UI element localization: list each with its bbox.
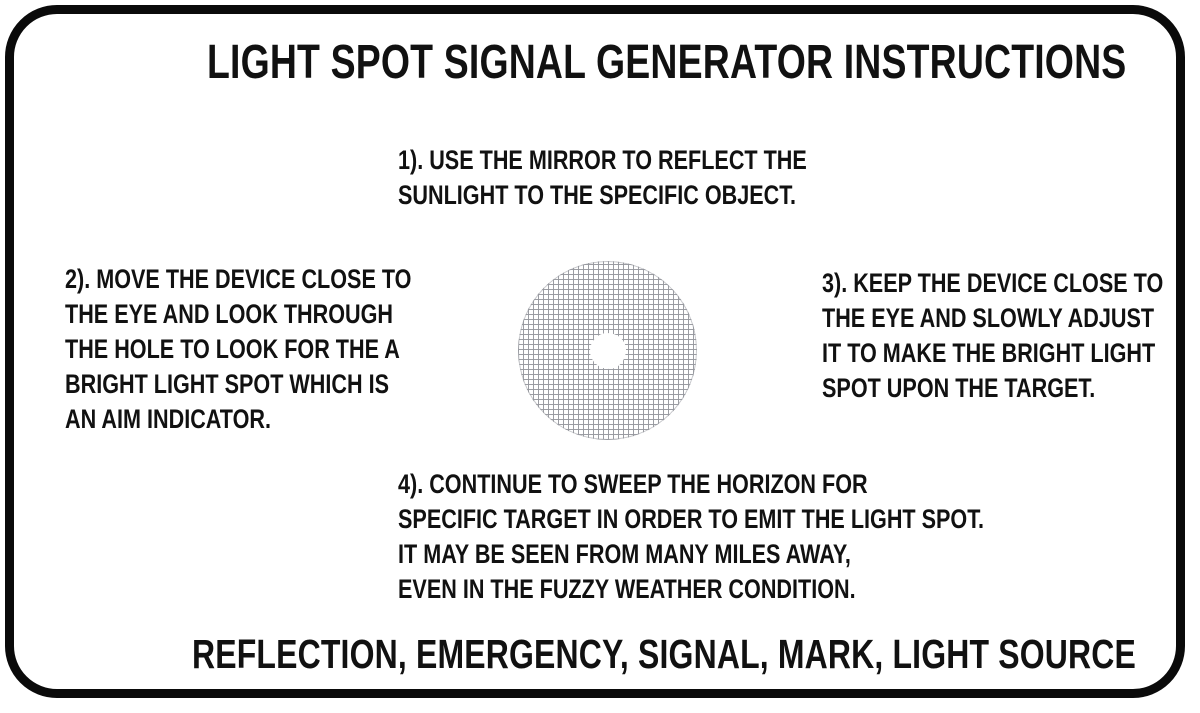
footer-tagline: REFLECTION, EMERGENCY, SIGNAL, MARK, LIG… (192, 632, 1136, 676)
step-3-line-1: 3). KEEP THE DEVICE CLOSE TO (822, 266, 1163, 301)
step-1-line-2: SUNLIGHT TO THE SPECIFIC OBJECT. (398, 178, 807, 213)
instruction-step-4: 4). CONTINUE TO SWEEP THE HORIZON FOR SP… (398, 467, 1131, 607)
step-2-line-1: 2). MOVE THE DEVICE CLOSE TO (65, 262, 411, 297)
step-4-line-3: IT MAY BE SEEN FROM MANY MILES AWAY, (398, 537, 984, 572)
step-4-line-2: SPECIFIC TARGET IN ORDER TO EMIT THE LIG… (398, 502, 984, 537)
step-2-line-5: AN AIM INDICATOR. (65, 402, 411, 437)
step-3-line-2: THE EYE AND SLOWLY ADJUST (822, 301, 1163, 336)
instruction-step-2: 2). MOVE THE DEVICE CLOSE TO THE EYE AND… (65, 262, 498, 437)
step-4-line-1: 4). CONTINUE TO SWEEP THE HORIZON FOR (398, 467, 984, 502)
step-3-line-3: IT TO MAKE THE BRIGHT LIGHT (822, 336, 1163, 371)
step-2-line-2: THE EYE AND LOOK THROUGH (65, 297, 411, 332)
step-3-line-4: SPOT UPON THE TARGET. (822, 371, 1163, 406)
mesh-disc-icon (518, 261, 697, 440)
instruction-label: LIGHT SPOT SIGNAL GENERATOR INSTRUCTIONS… (0, 0, 1200, 713)
step-4-line-4: EVEN IN THE FUZZY WEATHER CONDITION. (398, 572, 984, 607)
viewing-hole-icon (590, 333, 626, 369)
step-2-line-4: BRIGHT LIGHT SPOT WHICH IS (65, 367, 411, 402)
instruction-step-1: 1). USE THE MIRROR TO REFLECT THE SUNLIG… (398, 143, 909, 213)
page-title: LIGHT SPOT SIGNAL GENERATOR INSTRUCTIONS (207, 38, 1126, 88)
step-1-line-1: 1). USE THE MIRROR TO REFLECT THE (398, 143, 807, 178)
instruction-step-3: 3). KEEP THE DEVICE CLOSE TO THE EYE AND… (822, 266, 1200, 406)
step-2-line-3: THE HOLE TO LOOK FOR THE A (65, 332, 411, 367)
